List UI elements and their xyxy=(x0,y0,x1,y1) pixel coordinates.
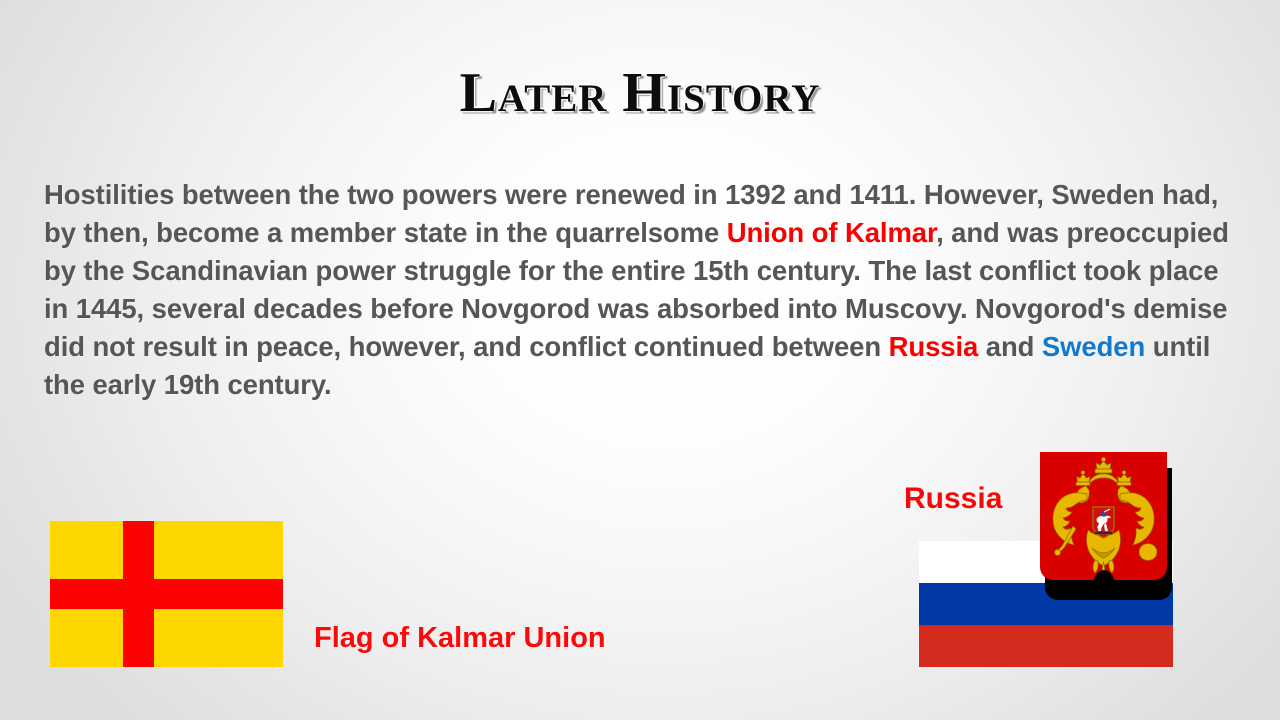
coat-of-arms-shield xyxy=(1040,452,1167,580)
presentation-slide: Later History Hostilities between the tw… xyxy=(0,0,1280,720)
kalmar-cross-vertical xyxy=(123,521,154,667)
page-title: Later History xyxy=(0,62,1280,124)
russia-coat-of-arms-image xyxy=(1040,452,1172,600)
highlight-sweden: Sweden xyxy=(1042,331,1145,362)
highlight-russia: Russia xyxy=(889,331,979,362)
highlight-union-of-kalmar: Union of Kalmar xyxy=(727,217,936,248)
russia-flag-band-red xyxy=(919,625,1173,667)
body-text-segment: and xyxy=(978,331,1042,362)
body-paragraph: Hostilities between the two powers were … xyxy=(44,176,1249,404)
russia-label: Russia xyxy=(904,481,1002,517)
kalmar-union-flag-image xyxy=(50,521,283,667)
kalmar-flag-caption: Flag of Kalmar Union xyxy=(314,621,606,655)
kalmar-cross-horizontal xyxy=(50,579,283,609)
double-headed-eagle-icon xyxy=(1040,452,1167,580)
